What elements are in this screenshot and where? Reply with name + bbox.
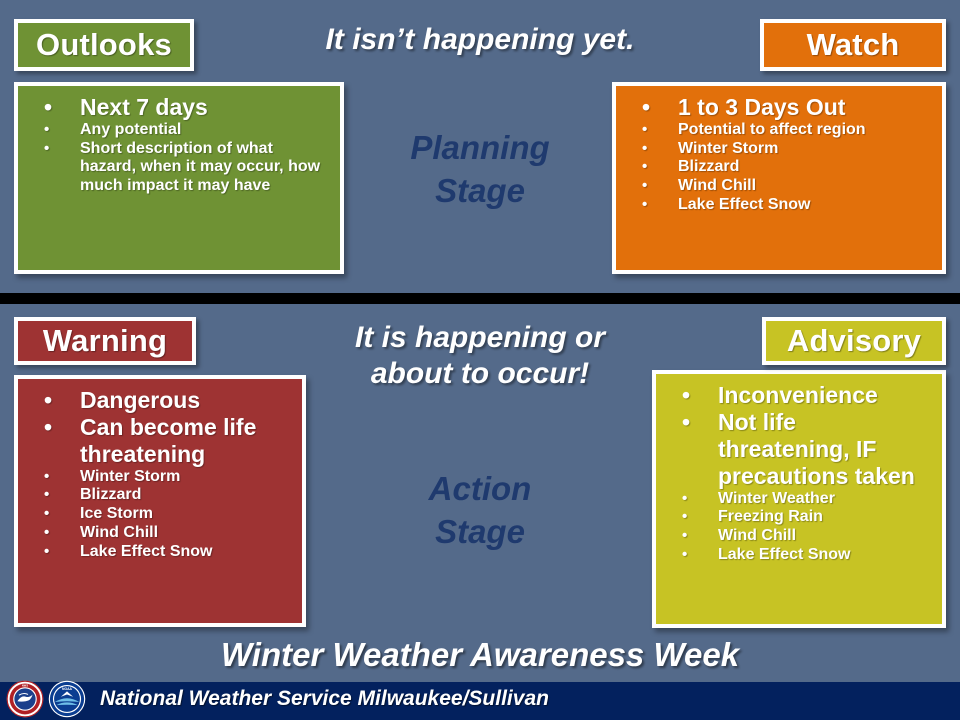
headline-bottom-line-1: It is happening or bbox=[280, 320, 680, 356]
section-divider bbox=[0, 293, 960, 304]
panel-outlooks: Next 7 days Any potential Short descript… bbox=[14, 82, 344, 274]
headline-bottom: It is happening or about to occur! bbox=[280, 320, 680, 392]
list-item: Wind Chill bbox=[624, 177, 932, 196]
tab-outlooks[interactable]: Outlooks bbox=[14, 19, 194, 71]
tab-advisory[interactable]: Advisory bbox=[762, 317, 946, 365]
tab-watch-label: Watch bbox=[807, 27, 900, 63]
tab-advisory-label: Advisory bbox=[787, 323, 921, 359]
stage-line-2: Stage bbox=[320, 170, 640, 213]
list-item: Short description of what hazard, when i… bbox=[26, 140, 330, 196]
headline-bottom-line-2: about to occur! bbox=[280, 356, 680, 392]
warning-list: Dangerous Can become life threatening Wi… bbox=[26, 387, 292, 561]
list-item: Inconvenience bbox=[664, 382, 932, 409]
tab-warning[interactable]: Warning bbox=[14, 317, 196, 365]
list-item: Lake Effect Snow bbox=[624, 196, 932, 215]
panel-warning: Dangerous Can become life threatening Wi… bbox=[14, 375, 306, 627]
list-item: 1 to 3 Days Out bbox=[624, 94, 932, 121]
nws-logo: NWS bbox=[6, 680, 44, 718]
advisory-list: Inconvenience Not life threatening, IF p… bbox=[664, 382, 932, 565]
svg-text:NOAA: NOAA bbox=[62, 687, 73, 691]
noaa-logo: NOAA bbox=[48, 680, 86, 718]
list-item: Dangerous bbox=[26, 387, 292, 414]
list-item: Blizzard bbox=[26, 486, 292, 505]
list-item: Wind Chill bbox=[664, 527, 932, 546]
tab-outlooks-label: Outlooks bbox=[36, 27, 172, 63]
panel-advisory: Inconvenience Not life threatening, IF p… bbox=[652, 370, 946, 628]
list-item: Any potential bbox=[26, 121, 330, 140]
list-item: Can become life threatening bbox=[26, 414, 292, 468]
list-item: Winter Storm bbox=[26, 468, 292, 487]
slide-canvas: Outlooks Next 7 days Any potential Short… bbox=[0, 0, 960, 720]
list-item: Lake Effect Snow bbox=[26, 543, 292, 562]
tab-watch[interactable]: Watch bbox=[760, 19, 946, 71]
footer-title: Winter Weather Awareness Week bbox=[0, 636, 960, 674]
stage-line-1: Action bbox=[325, 468, 635, 511]
list-item: Winter Weather bbox=[664, 490, 932, 509]
list-item: Next 7 days bbox=[26, 94, 330, 121]
list-item: Freezing Rain bbox=[664, 508, 932, 527]
list-item: Lake Effect Snow bbox=[664, 546, 932, 565]
footer-agency-text: National Weather Service Milwaukee/Sulli… bbox=[100, 687, 549, 711]
headline-top: It isn’t happening yet. bbox=[255, 22, 705, 58]
list-item: Blizzard bbox=[624, 158, 932, 177]
stage-line-2: Stage bbox=[325, 511, 635, 554]
list-item: Ice Storm bbox=[26, 505, 292, 524]
tab-warning-label: Warning bbox=[43, 323, 167, 359]
panel-watch: 1 to 3 Days Out Potential to affect regi… bbox=[612, 82, 946, 274]
list-item: Winter Storm bbox=[624, 140, 932, 159]
outlooks-list: Next 7 days Any potential Short descript… bbox=[26, 94, 330, 196]
list-item: Not life threatening, IF precautions tak… bbox=[664, 409, 932, 490]
list-item: Potential to affect region bbox=[624, 121, 932, 140]
list-item: Wind Chill bbox=[26, 524, 292, 543]
stage-caption-planning: Planning Stage bbox=[320, 127, 640, 213]
watch-list: 1 to 3 Days Out Potential to affect regi… bbox=[624, 94, 932, 215]
stage-line-1: Planning bbox=[320, 127, 640, 170]
stage-caption-action: Action Stage bbox=[325, 468, 635, 554]
